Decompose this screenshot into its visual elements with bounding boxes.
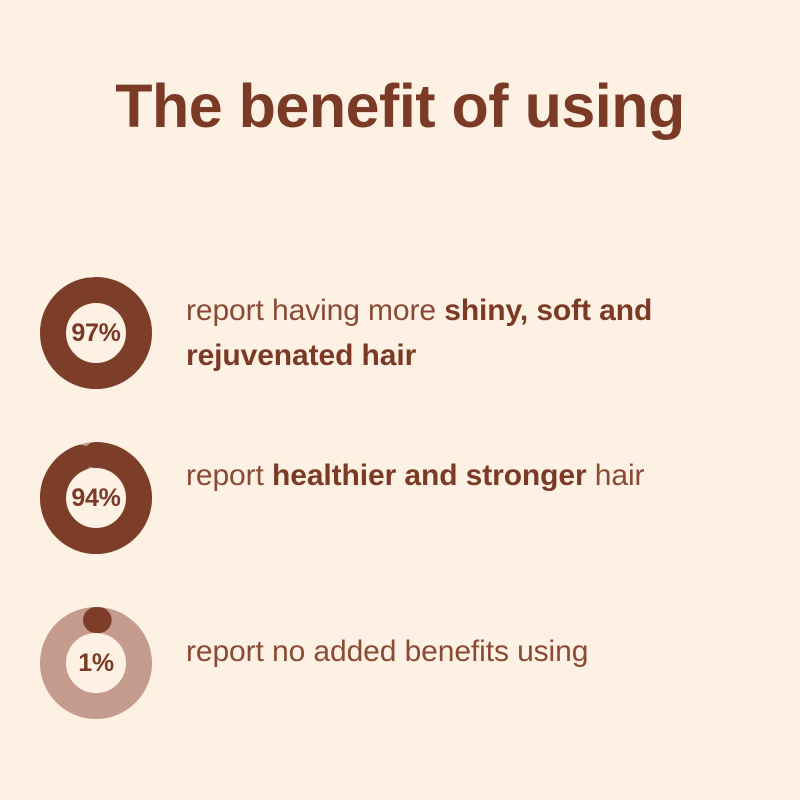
stat-row: 1% report no added benefits using: [0, 595, 800, 760]
stat-description-tail: hair: [587, 459, 645, 492]
stat-description-highlight: healthier and stronger: [272, 459, 587, 492]
stat-description-lead: report having more: [186, 294, 444, 327]
stat-description: report healthier and stronger hair: [186, 453, 760, 498]
donut-percent-label: 97%: [40, 277, 152, 389]
donut-chart-94: 94%: [40, 442, 152, 554]
page-title: The benefit of using: [0, 76, 800, 137]
stats-list: 97% report having more shiny, soft and r…: [0, 265, 800, 760]
donut-percent-label: 1%: [40, 607, 152, 719]
stat-row: 97% report having more shiny, soft and r…: [0, 265, 800, 430]
stat-row: 94% report healthier and stronger hair: [0, 430, 800, 595]
stat-description: report having more shiny, soft and rejuv…: [186, 288, 760, 378]
stat-description-lead: report no added benefits using: [186, 635, 588, 668]
donut-chart-97: 97%: [40, 277, 152, 389]
donut-chart-1: 1%: [40, 607, 152, 719]
donut-percent-label: 94%: [40, 442, 152, 554]
stat-description: report no added benefits using: [186, 629, 760, 674]
stat-description-lead: report: [186, 459, 272, 492]
infographic-page: The benefit of using 97% report having m…: [0, 0, 800, 800]
